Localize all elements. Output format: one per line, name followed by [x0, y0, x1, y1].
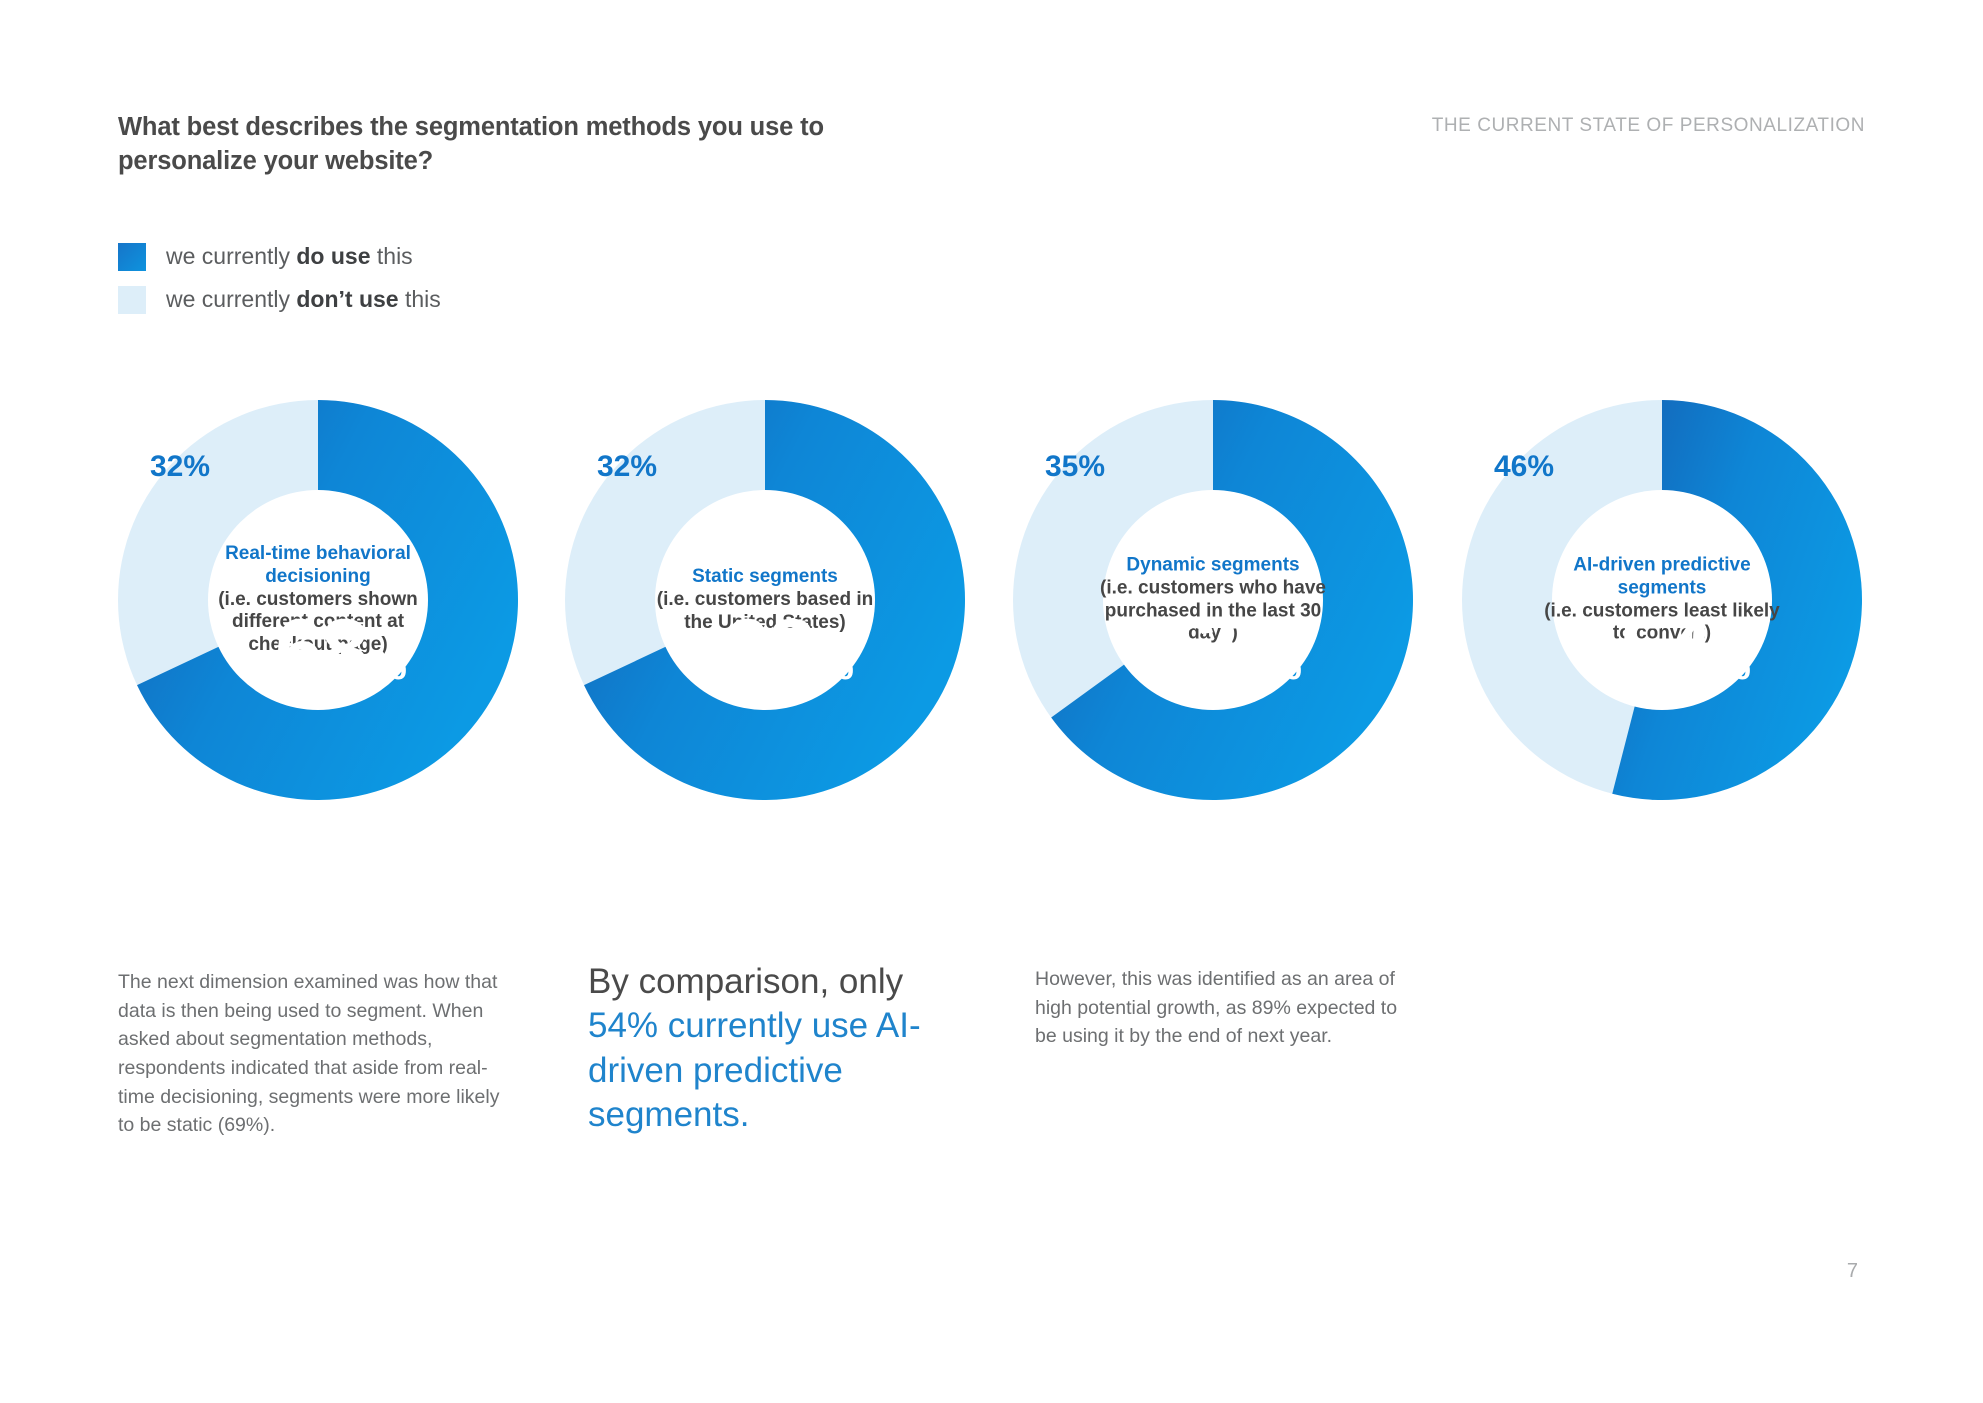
donut-label: Real-time behavioral decisioning [199, 543, 437, 589]
donut-dont-use-value: 32% [150, 450, 210, 484]
donut-do-use-symbol: % [1714, 648, 1751, 682]
donut-chart-real-time-behavioral-decisioning: Real-time behavioral decisioning (i.e. c… [118, 400, 518, 800]
donut-do-use-symbol: % [370, 648, 407, 682]
legend-swatch-do-use-icon [118, 243, 146, 271]
pull-quote-highlight: 54% currently use AI-driven predictive s… [588, 1006, 921, 1134]
donut-label: Static segments [646, 566, 884, 589]
donut-do-use-symbol: % [1265, 648, 1302, 682]
donut-label: Dynamic segments [1094, 554, 1332, 577]
pull-quote-lead: By comparison, only [588, 962, 903, 1001]
running-head: THE CURRENT STATE OF PERSONALIZATION [1432, 115, 1865, 137]
donut-chart-dynamic-segments: Dynamic segments (i.e. customers who hav… [1013, 400, 1413, 800]
legend-label-dont-use: we currently don’t use this [166, 286, 441, 313]
legend-label-do-use: we currently do use this [166, 243, 413, 270]
donut-label: AI-driven predictive segments [1543, 554, 1781, 600]
donut-do-use-value: 54 % [1619, 615, 1751, 686]
donut-do-use-value: 65 % [1170, 615, 1302, 686]
donut-do-use-symbol: % [817, 648, 854, 682]
donut-do-use-value: 68 % [722, 615, 854, 686]
donut-dont-use-value: 32% [597, 450, 657, 484]
page-title: What best describes the segmentation met… [118, 110, 878, 178]
donut-chart-ai-driven-predictive-segments: AI-driven predictive segments (i.e. cust… [1462, 400, 1862, 800]
legend-item-do-use: we currently do use this [118, 235, 441, 278]
donut-chart-static-segments: Static segments (i.e. customers based in… [565, 400, 965, 800]
body-copy-column-one: The next dimension examined was how that… [118, 968, 500, 1140]
donut-do-use-number: 65 [1170, 615, 1262, 686]
donut-dont-use-value: 35% [1045, 450, 1105, 484]
legend-swatch-dont-use-icon [118, 286, 146, 314]
donut-do-use-number: 68 [275, 615, 367, 686]
body-copy-column-three: However, this was identified as an area … [1035, 965, 1405, 1051]
donut-do-use-value: 68 % [275, 615, 407, 686]
donut-dont-use-value: 46% [1494, 450, 1554, 484]
donut-do-use-number: 54 [1619, 615, 1711, 686]
donut-do-use-number: 68 [722, 615, 814, 686]
pull-quote: By comparison, only 54% currently use AI… [588, 960, 948, 1138]
legend-item-dont-use: we currently don’t use this [118, 278, 441, 321]
page-number: 7 [1847, 1260, 1858, 1283]
chart-legend: we currently do use this we currently do… [118, 235, 441, 321]
